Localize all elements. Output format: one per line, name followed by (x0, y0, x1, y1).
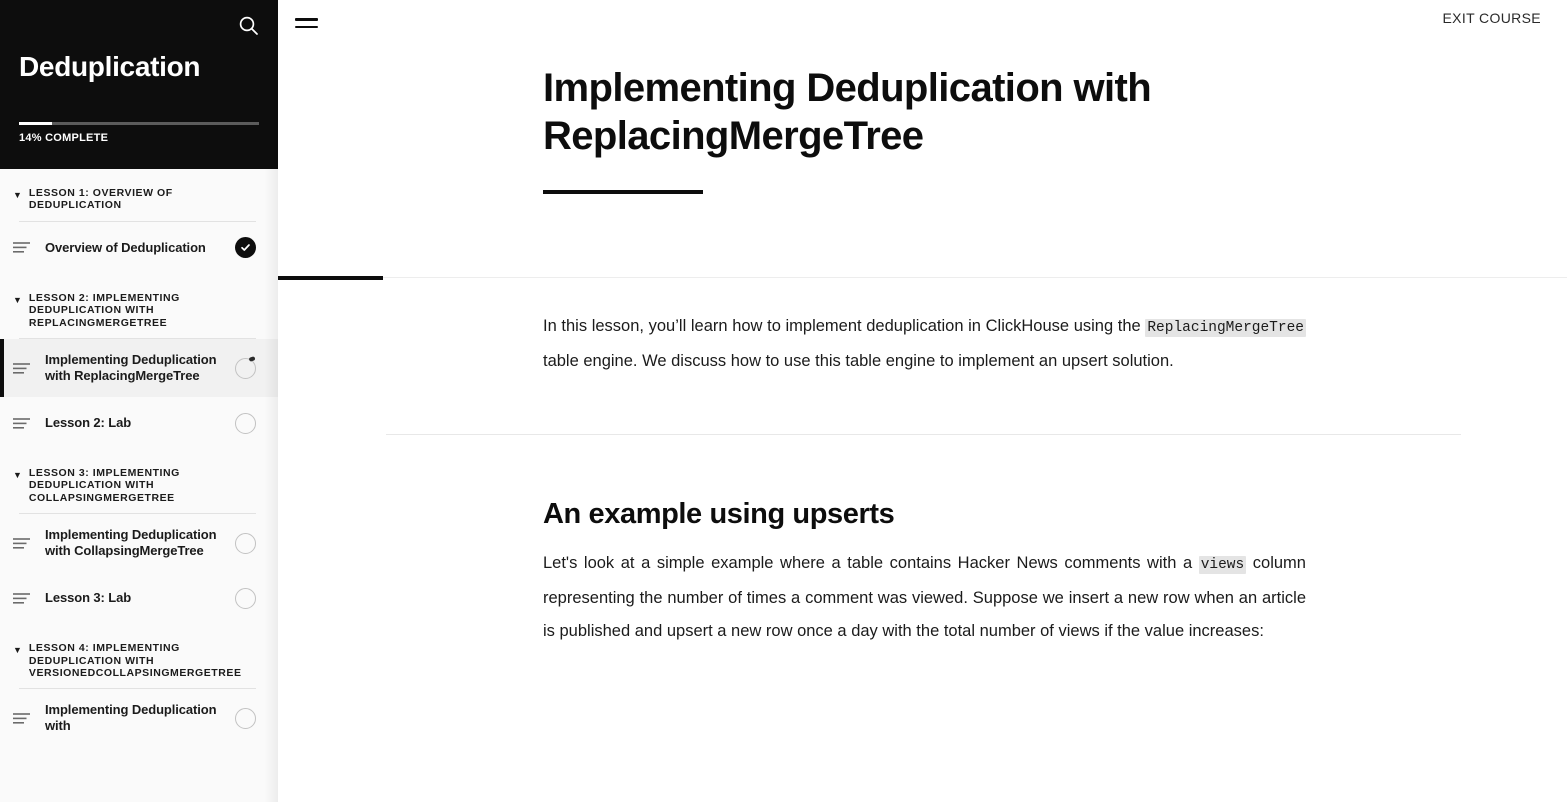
progress-label: 14% COMPLETE (19, 132, 259, 144)
lesson-item[interactable]: Overview of Deduplication (0, 222, 278, 274)
inline-code-views: views (1199, 556, 1247, 574)
main-content: EXIT COURSE Implementing Deduplication w… (278, 0, 1567, 802)
lesson-group-label: LESSON 2: IMPLEMENTING DEDUPLICATION WIT… (29, 292, 256, 329)
lesson-status (235, 358, 256, 379)
lesson-item-active[interactable]: Implementing Deduplication with Replacin… (0, 339, 278, 397)
lesson-group-header[interactable]: ▼LESSON 1: OVERVIEW OF DEDUPLICATION (0, 169, 278, 212)
course-progress: 14% COMPLETE (19, 122, 259, 144)
lesson-item-label: Implementing Deduplication with (45, 702, 222, 734)
hamburger-bar (295, 18, 318, 21)
chevron-down-icon: ▼ (13, 468, 22, 482)
lesson-group-header[interactable]: ▼LESSON 2: IMPLEMENTING DEDUPLICATION WI… (0, 274, 278, 329)
lesson-status (235, 237, 256, 258)
section-divider (386, 434, 1461, 435)
lesson-item-label: Lesson 2: Lab (45, 415, 222, 431)
chevron-down-icon: ▼ (13, 188, 22, 202)
article-lines-icon (13, 417, 32, 430)
article-lines-icon (13, 241, 32, 254)
section-heading: An example using upserts (543, 497, 1306, 531)
lesson-status (235, 533, 256, 554)
lesson-item-label: Overview of Deduplication (45, 240, 222, 256)
intro-text-before: In this lesson, you’ll learn how to impl… (543, 317, 1145, 335)
lesson-list[interactable]: ▼LESSON 1: OVERVIEW OF DEDUPLICATIONOver… (0, 169, 278, 802)
lesson-item-label: Implementing Deduplication with Collapsi… (45, 527, 222, 559)
status-incomplete-icon (235, 588, 256, 609)
intro-text-after: table engine. We discuss how to use this… (543, 352, 1174, 370)
lesson-body: In this lesson, you’ll learn how to impl… (278, 277, 1567, 648)
course-sidebar: Deduplication 14% COMPLETE ▼LESSON 1: OV… (0, 0, 278, 802)
search-icon[interactable] (234, 11, 262, 39)
article-lines-icon (13, 537, 32, 550)
article-lines-icon (13, 362, 32, 375)
lesson-item[interactable]: Lesson 3: Lab (0, 572, 278, 624)
intro-paragraph: In this lesson, you’ll learn how to impl… (543, 277, 1306, 378)
page-header: Implementing Deduplication with Replacin… (278, 46, 1567, 194)
article-lines-icon (13, 712, 32, 725)
chevron-down-icon: ▼ (13, 293, 22, 307)
lesson-status (235, 588, 256, 609)
exit-course-button[interactable]: EXIT COURSE (1442, 10, 1541, 26)
section-paragraph: Let's look at a simple example where a t… (543, 547, 1306, 648)
lesson-group-label: LESSON 4: IMPLEMENTING DEDUPLICATION WIT… (29, 642, 256, 679)
lesson-item-label: Implementing Deduplication with Replacin… (45, 352, 222, 384)
page-title: Implementing Deduplication with Replacin… (543, 64, 1243, 160)
status-incomplete-icon (235, 533, 256, 554)
course-title: Deduplication (19, 49, 200, 85)
lesson-group-label: LESSON 3: IMPLEMENTING DEDUPLICATION WIT… (29, 467, 256, 504)
progress-track (19, 122, 259, 125)
lesson-group-label: LESSON 1: OVERVIEW OF DEDUPLICATION (29, 187, 256, 212)
progress-fill (19, 122, 52, 125)
inline-code-replacingmergetree: ReplacingMergeTree (1145, 319, 1306, 337)
lesson-item[interactable]: Lesson 2: Lab (0, 397, 278, 449)
status-incomplete-icon (235, 413, 256, 434)
hamburger-bar (295, 26, 318, 29)
lesson-group-header[interactable]: ▼LESSON 4: IMPLEMENTING DEDUPLICATION WI… (0, 624, 278, 679)
lesson-status (235, 708, 256, 729)
lesson-group-header[interactable]: ▼LESSON 3: IMPLEMENTING DEDUPLICATION WI… (0, 449, 278, 504)
lesson-item-label: Lesson 3: Lab (45, 590, 222, 606)
status-in-progress-icon (235, 358, 256, 379)
hamburger-menu-icon[interactable] (295, 8, 325, 38)
chevron-down-icon: ▼ (13, 643, 22, 657)
lesson-item[interactable]: Implementing Deduplication with Collapsi… (0, 514, 278, 572)
course-player: Deduplication 14% COMPLETE ▼LESSON 1: OV… (0, 0, 1567, 802)
lesson-status (235, 413, 256, 434)
section-text-before: Let's look at a simple example where a t… (543, 554, 1199, 572)
article-lines-icon (13, 592, 32, 605)
sidebar-header: Deduplication 14% COMPLETE (0, 0, 278, 169)
top-bar: EXIT COURSE (278, 0, 1567, 46)
status-complete-icon (235, 237, 256, 258)
lesson-item[interactable]: Implementing Deduplication with (0, 689, 278, 747)
status-incomplete-icon (235, 708, 256, 729)
title-underline (543, 190, 703, 194)
